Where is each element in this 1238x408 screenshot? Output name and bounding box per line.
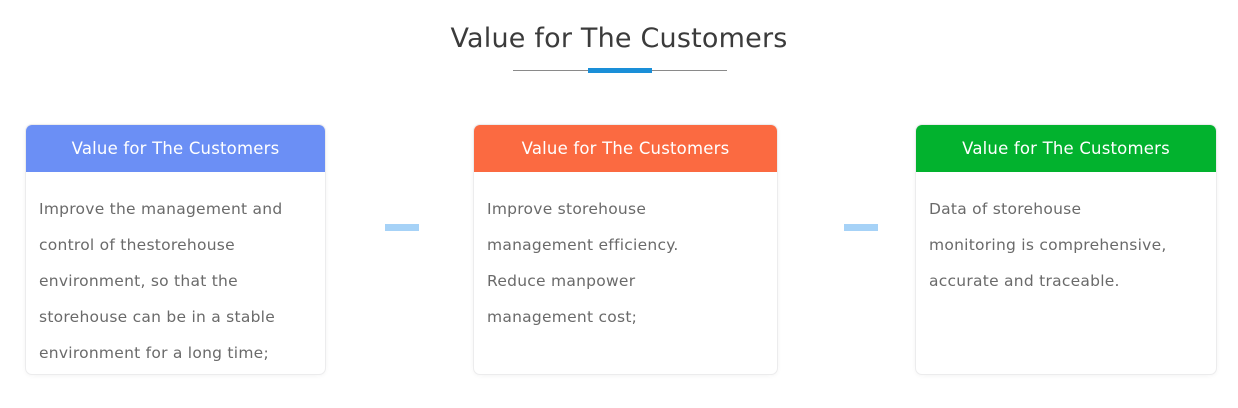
card-2-header: Value for The Customers [474,125,777,172]
value-card-3[interactable]: Value for The Customers Data of storehou… [915,124,1217,375]
card-1-body-line: environment, so that the [39,263,303,299]
value-card-2[interactable]: Value for The Customers Improve storehou… [473,124,778,375]
card-1-header: Value for The Customers [26,125,325,172]
card-2-body-line: Improve storehouse [487,191,755,227]
card-1-body-line: control of thestorehouse [39,227,303,263]
card-3-body-line: Data of storehouse [929,191,1194,227]
page-title: Value for The Customers [0,22,1238,56]
connector-dash-2 [844,224,878,231]
card-2-body: Improve storehouse management efficiency… [474,172,777,335]
card-2-body-line: management efficiency. [487,227,755,263]
card-1-body-line: storehouse can be in a stable [39,299,303,335]
page-header: Value for The Customers [0,22,1238,56]
card-3-body-line: accurate and traceable. [929,263,1194,299]
value-card-1[interactable]: Value for The Customers Improve the mana… [25,124,326,375]
card-1-body-line: Improve the management and [39,191,303,227]
card-1-body: Improve the management and control of th… [26,172,325,371]
card-2-body-line: management cost; [487,299,755,335]
card-2-body-line: Reduce manpower [487,263,755,299]
card-1-body-line: environment for a long time; [39,335,303,371]
card-3-body-line: monitoring is comprehensive, [929,227,1194,263]
connector-dash-1 [385,224,419,231]
card-3-body: Data of storehouse monitoring is compreh… [916,172,1216,299]
card-3-header: Value for The Customers [916,125,1216,172]
title-underline [513,68,727,74]
title-rule-accent [588,68,652,73]
